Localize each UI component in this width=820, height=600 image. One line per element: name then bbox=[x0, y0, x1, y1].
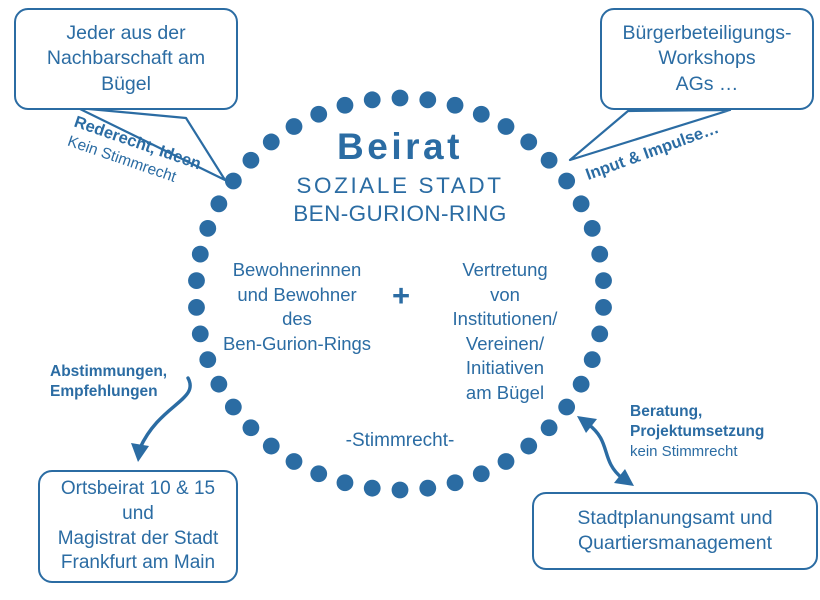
ring-dot bbox=[520, 438, 537, 455]
box-city-planning-line-2: Quartiersmanagement bbox=[578, 531, 772, 556]
ring-dot bbox=[419, 480, 436, 497]
ring-dot bbox=[473, 465, 490, 482]
label-advice-line-2: Projektumsetzung bbox=[630, 422, 764, 442]
ring-dot bbox=[310, 106, 327, 123]
ring-dot bbox=[595, 299, 612, 316]
center-voting-right-note: -Stimmrecht- bbox=[280, 430, 520, 452]
ring-dot bbox=[188, 299, 205, 316]
center-membership-columns: Bewohnerinnen und Bewohner des Ben-Gurio… bbox=[206, 258, 596, 406]
ring-dot bbox=[473, 106, 490, 123]
box-local-council[interactable]: Ortsbeirat 10 & 15 und Magistrat der Sta… bbox=[38, 470, 238, 583]
center-column-institutions-line-3: Institutionen/ bbox=[421, 307, 589, 332]
ring-dot bbox=[364, 91, 381, 108]
box-local-council-line-3: Magistrat der Stadt bbox=[58, 527, 219, 552]
center-column-institutions-line-5: Initiativen bbox=[421, 356, 589, 381]
bubble-neighbourhood[interactable]: Jeder aus der Nachbarschaft am Bügel bbox=[14, 8, 238, 110]
bubble-neighbourhood-line-2: Nachbarschaft am bbox=[47, 46, 205, 71]
box-local-council-line-4: Frankfurt am Main bbox=[61, 551, 215, 576]
box-local-council-line-2: und bbox=[122, 502, 154, 527]
ring-dot bbox=[595, 272, 612, 289]
ring-dot bbox=[310, 465, 327, 482]
box-local-council-line-1: Ortsbeirat 10 & 15 bbox=[61, 477, 215, 502]
label-advice-line-1: Beratung, bbox=[630, 402, 764, 422]
ring-dot bbox=[419, 91, 436, 108]
diagram-canvas: Jeder aus der Nachbarschaft am Bügel Bür… bbox=[0, 0, 820, 600]
ring-dot bbox=[337, 97, 354, 114]
label-votes-line-1: Abstimmungen, bbox=[50, 363, 167, 380]
ring-dot bbox=[392, 90, 409, 107]
ring-dot bbox=[286, 453, 303, 470]
center-column-residents-line-4: Ben-Gurion-Rings bbox=[213, 332, 381, 357]
bubble-participation-line-2: Workshops bbox=[658, 46, 755, 71]
bubble-participation-line-1: Bürgerbeteiligungs- bbox=[622, 21, 791, 46]
center-column-institutions-line-6: am Bügel bbox=[421, 381, 589, 406]
center-column-institutions: Vertretung von Institutionen/ Vereinen/ … bbox=[421, 258, 589, 406]
ring-dot bbox=[337, 474, 354, 491]
center-column-institutions-line-1: Vertretung bbox=[421, 258, 589, 283]
label-advice-line-3: kein Stimmrecht bbox=[630, 442, 764, 462]
center-column-institutions-line-4: Vereinen/ bbox=[421, 332, 589, 357]
center-column-residents-line-3: des bbox=[213, 307, 381, 332]
bubble-participation-line-3: AGs … bbox=[676, 72, 739, 97]
bubble-neighbourhood-line-1: Jeder aus der bbox=[66, 21, 185, 46]
bubble-participation[interactable]: Bürgerbeteiligungs- Workshops AGs … bbox=[600, 8, 814, 110]
ring-dot bbox=[541, 419, 558, 436]
plus-icon: + bbox=[381, 280, 421, 311]
center-title-block: Beirat SOZIALE STADT BEN-GURION-RING bbox=[210, 128, 590, 227]
ring-dot bbox=[263, 438, 280, 455]
center-column-residents-line-1: Bewohnerinnen bbox=[213, 258, 381, 283]
ring-dot bbox=[243, 419, 260, 436]
label-votes-line-2: Empfehlungen bbox=[50, 383, 158, 400]
ring-dot bbox=[188, 272, 205, 289]
ring-dot bbox=[447, 97, 464, 114]
box-city-planning[interactable]: Stadtplanungsamt und Quartiersmanagement bbox=[532, 492, 818, 570]
center-column-residents-line-2: und Bewohner bbox=[213, 283, 381, 308]
box-city-planning-line-1: Stadtplanungsamt und bbox=[577, 506, 772, 531]
center-title-subtitle-2: BEN-GURION-RING bbox=[210, 200, 590, 227]
center-title-subtitle-1: SOZIALE STADT bbox=[210, 171, 590, 200]
center-column-residents: Bewohnerinnen und Bewohner des Ben-Gurio… bbox=[213, 258, 381, 356]
ring-dot bbox=[364, 480, 381, 497]
label-votes-recommendations: Abstimmungen, Empfehlungen bbox=[50, 362, 167, 402]
ring-dot bbox=[447, 474, 464, 491]
center-title-main: Beirat bbox=[210, 128, 590, 167]
ring-dot bbox=[498, 453, 515, 470]
label-advice-implementation: Beratung, Projektumsetzung kein Stimmrec… bbox=[630, 402, 764, 462]
ring-dot bbox=[392, 482, 409, 499]
arrow-advice bbox=[577, 416, 634, 486]
bubble-neighbourhood-line-3: Bügel bbox=[101, 72, 151, 97]
center-column-institutions-line-2: von bbox=[421, 283, 589, 308]
